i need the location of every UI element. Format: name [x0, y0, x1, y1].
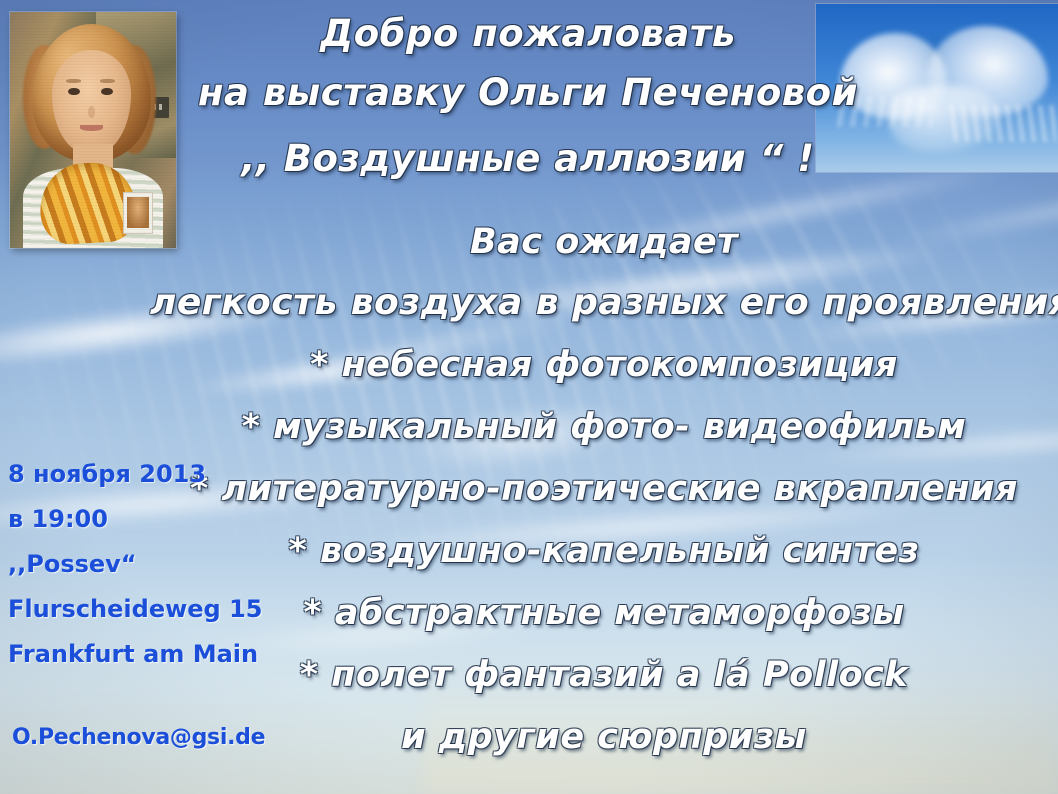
event-street: Flurscheideweg 15: [8, 587, 308, 632]
event-info-block: 8 ноября 2013 в 19:00 ,,Possev“ Flursche…: [8, 452, 308, 677]
contact-email-link[interactable]: O.Pechenova@gsi.de: [12, 725, 265, 750]
cloud-wisp-right: [949, 105, 1055, 142]
event-time: в 19:00: [8, 497, 308, 542]
event-venue: ,,Possev“: [8, 542, 308, 587]
program-item-7: и другие сюрпризы: [150, 706, 1058, 768]
lead-line-2: легкость воздуха в разных его проявления…: [150, 272, 1058, 334]
program-item-1: * небесная фотокомпозиция: [150, 334, 1058, 396]
program-item-2: * музыкальный фото- видеофильм: [150, 396, 1058, 458]
event-city: Frankfurt am Main: [8, 632, 308, 677]
headline-line-2: на выставку Ольги Печеновой: [178, 60, 878, 126]
cloud-heart-lobe-right: [927, 26, 1048, 118]
lead-line-1: Вас ожидает: [150, 212, 1058, 272]
event-date: 8 ноября 2013: [8, 452, 308, 497]
poster-canvas: Добро пожаловать на выставку Ольги Печен…: [0, 0, 1058, 794]
cloud-heart-notch: [913, 31, 952, 75]
cloud-heart-tail: [889, 85, 1000, 152]
headline-line-3: ,, Воздушные аллюзии “ !: [178, 126, 878, 192]
headline-line-1: Добро пожаловать: [178, 8, 878, 60]
headline-block: Добро пожаловать на выставку Ольги Печен…: [178, 8, 878, 192]
